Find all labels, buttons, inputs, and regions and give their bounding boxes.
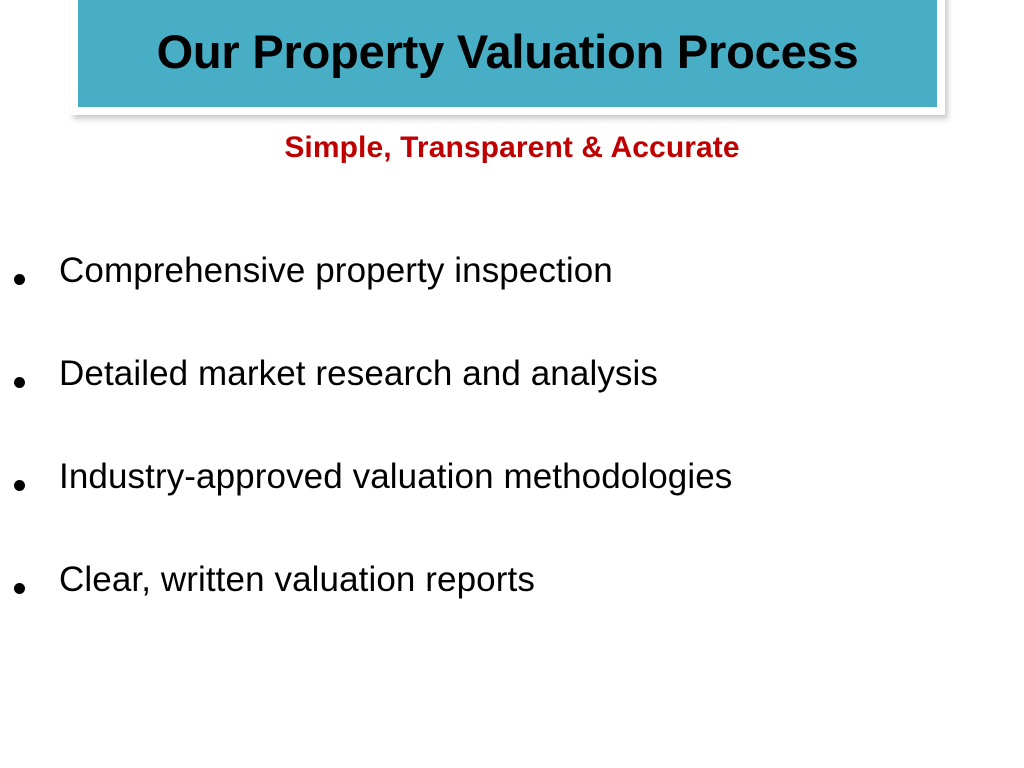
title-banner-fill: Our Property Valuation Process: [78, 0, 937, 107]
list-item: Clear, written valuation reports: [0, 557, 1024, 660]
list-item-label: Clear, written valuation reports: [59, 557, 535, 603]
bullet-list: Comprehensive property inspection Detail…: [0, 248, 1024, 660]
list-item: Detailed market research and analysis: [0, 351, 1024, 454]
subtitle-container: Simple, Transparent & Accurate: [0, 131, 1024, 165]
list-item-label: Comprehensive property inspection: [59, 248, 613, 294]
list-item-label: Detailed market research and analysis: [59, 351, 658, 397]
bullet-dot-icon: [14, 480, 25, 491]
bullet-dot-icon: [14, 377, 25, 388]
list-item-label: Industry-approved valuation methodologie…: [59, 454, 732, 500]
bullet-dot-icon: [14, 583, 25, 594]
bullet-dot-icon: [14, 274, 25, 285]
title-banner: Our Property Valuation Process: [70, 0, 945, 115]
page-title: Our Property Valuation Process: [157, 28, 859, 76]
presentation-slide: Our Property Valuation Process Simple, T…: [0, 0, 1024, 768]
list-item: Comprehensive property inspection: [0, 248, 1024, 351]
list-item: Industry-approved valuation methodologie…: [0, 454, 1024, 557]
subtitle: Simple, Transparent & Accurate: [284, 131, 739, 164]
